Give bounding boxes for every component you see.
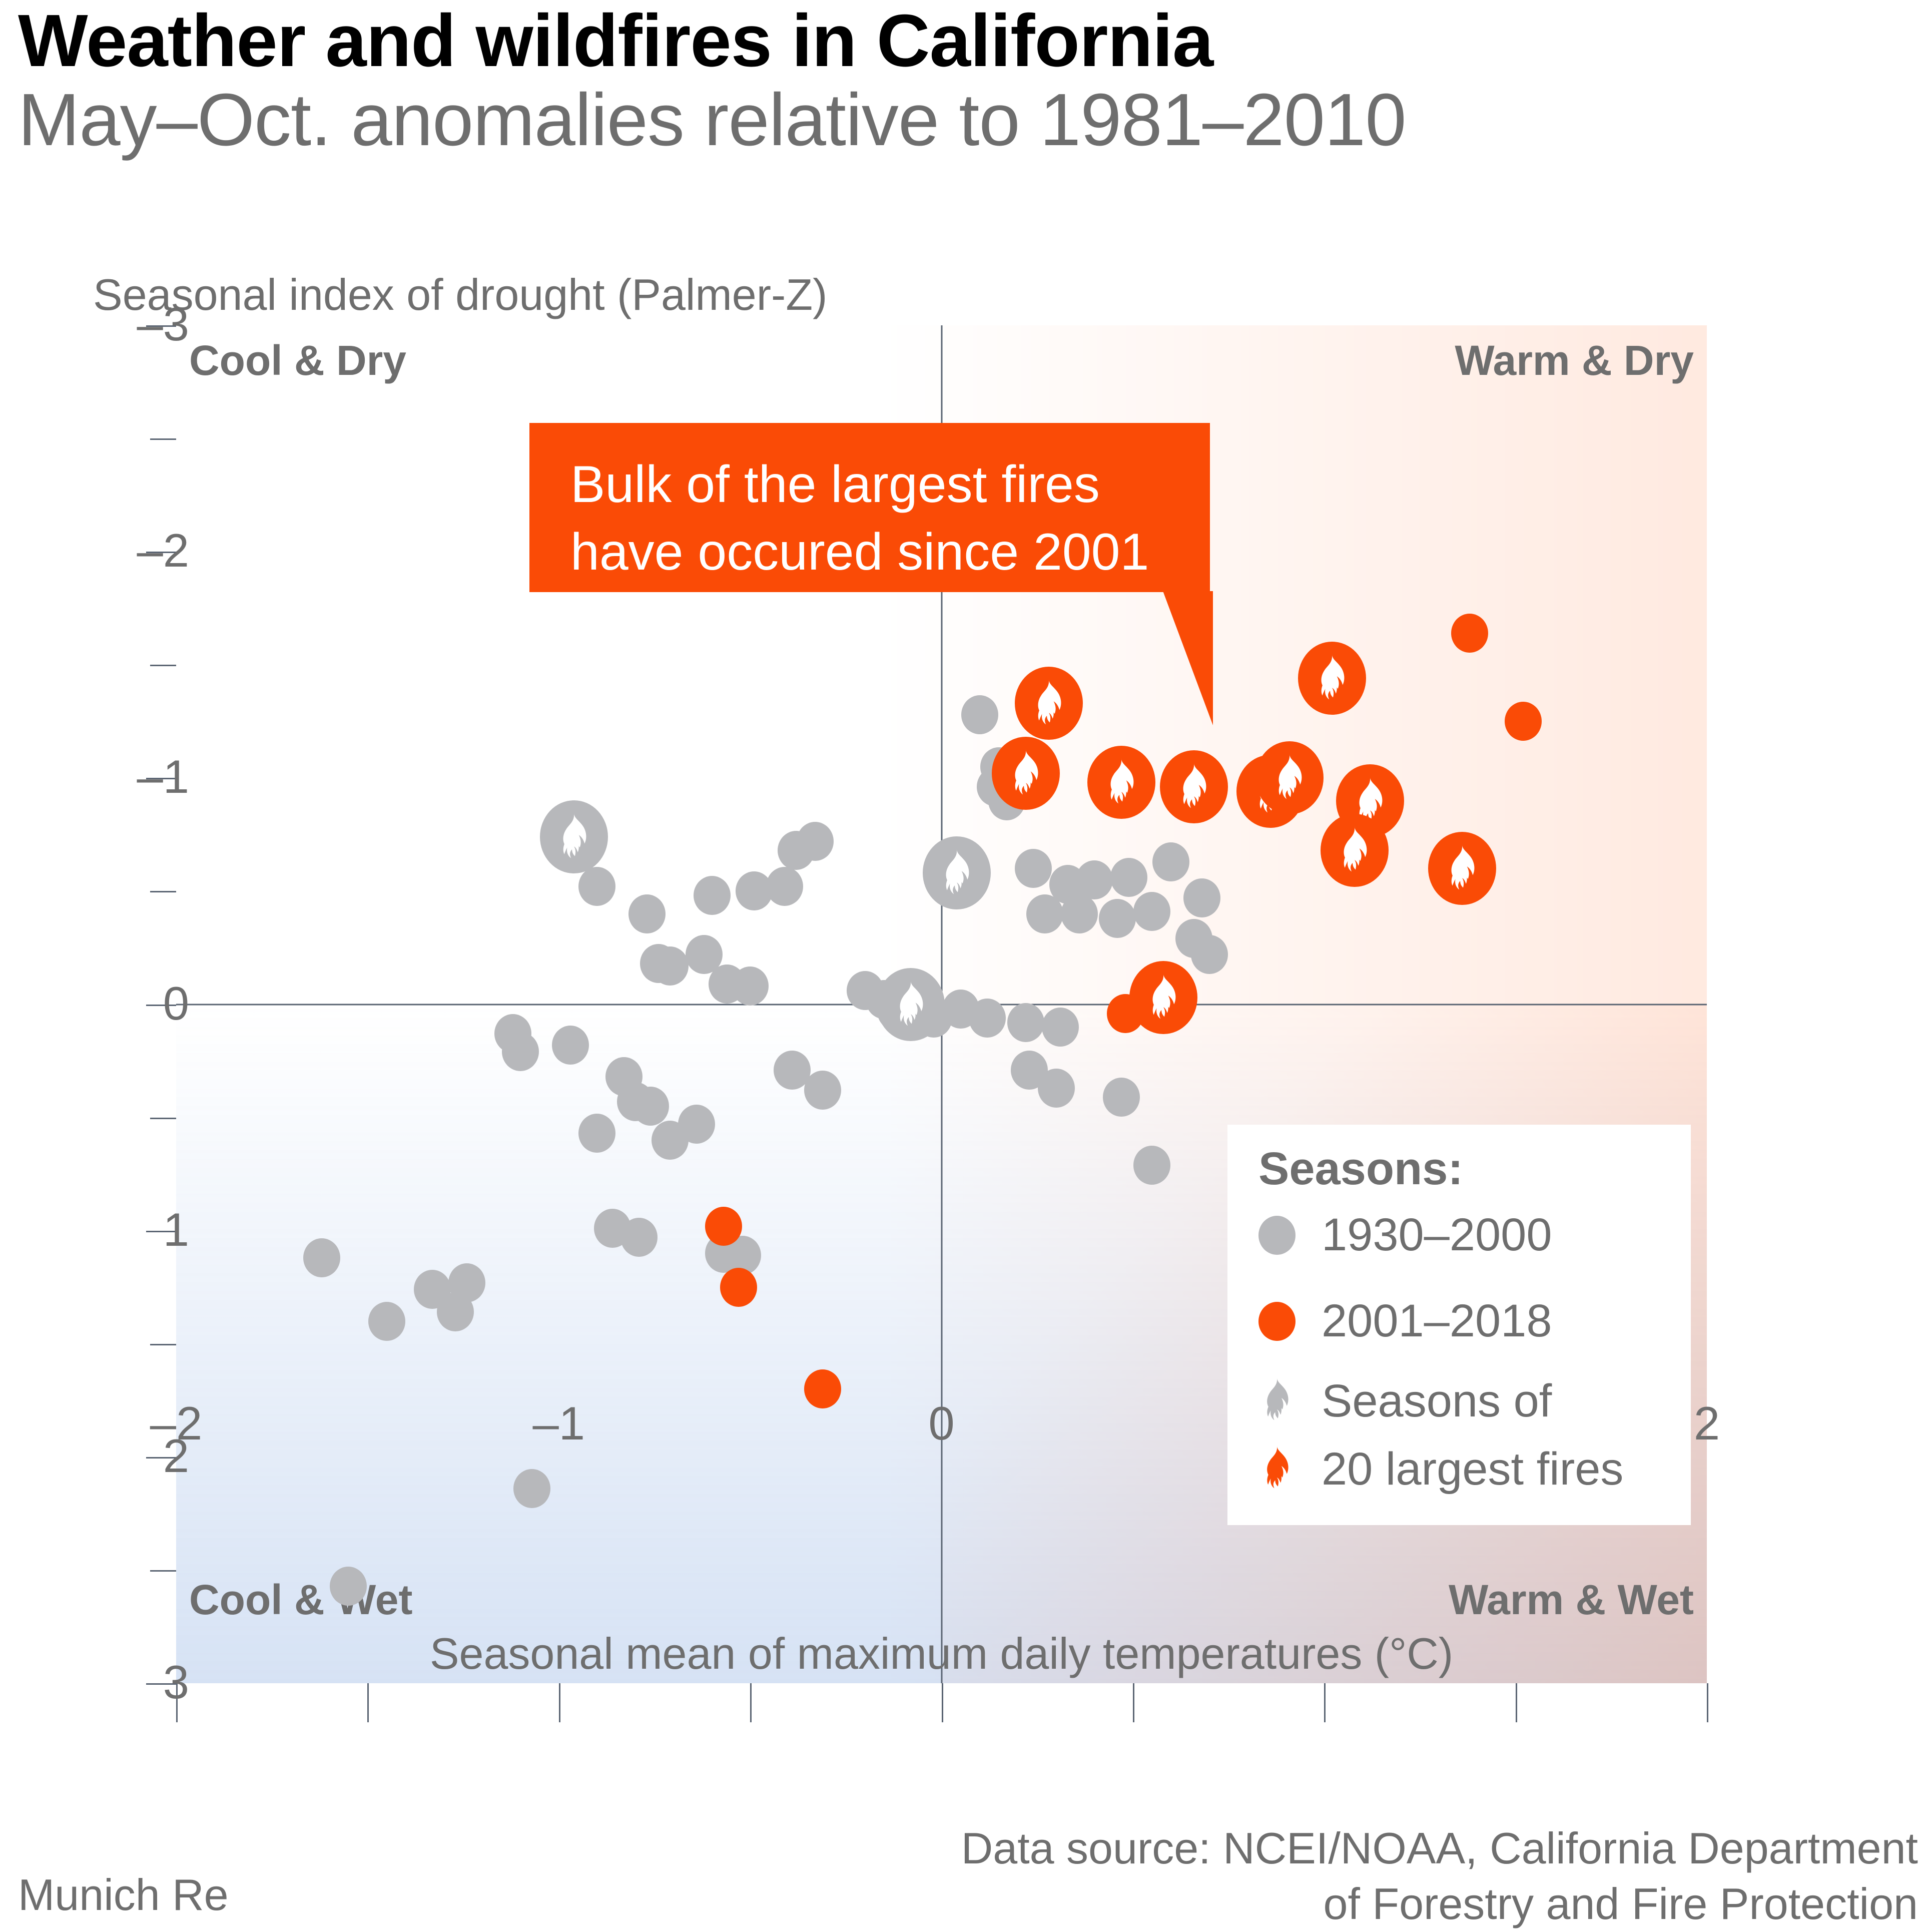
- data-point: [778, 831, 815, 870]
- quadrant-label-warm-dry: Warm & Dry: [1455, 336, 1694, 385]
- data-point: [1133, 892, 1170, 931]
- data-point: [1183, 878, 1220, 917]
- data-point: [502, 1032, 539, 1071]
- annotation-line-1: Bulk of the largest fires: [570, 455, 1100, 514]
- annotation-line-2: have occured since 2001: [570, 523, 1149, 581]
- data-point: [1061, 894, 1098, 933]
- x-tick: [1324, 1683, 1326, 1722]
- x-tick: [1133, 1683, 1134, 1722]
- fire-marker: [877, 968, 945, 1041]
- data-point: [330, 1567, 367, 1606]
- fire-marker: [1298, 642, 1366, 715]
- data-point: [578, 1114, 615, 1153]
- y-tick-minor: [150, 1118, 176, 1119]
- y-tick-label: –1: [59, 750, 189, 804]
- orange-flame-icon: [1258, 1445, 1296, 1494]
- grey-flame-icon: [1258, 1377, 1296, 1425]
- legend-item-20-largest-fires[interactable]: 20 largest fires: [1258, 1443, 1623, 1496]
- data-point: [1099, 899, 1136, 938]
- y-tick-minor: [150, 1570, 176, 1572]
- brand-label: Munich Re: [18, 1869, 229, 1920]
- fire-marker: [540, 800, 608, 873]
- legend-item-seasons-of[interactable]: Seasons of: [1258, 1375, 1552, 1427]
- page-title: Weather and wildfires in California: [18, 0, 1719, 87]
- x-tick: [942, 1683, 943, 1722]
- fire-marker: [1428, 832, 1496, 905]
- x-tick: [367, 1683, 369, 1722]
- x-tick: [1516, 1683, 1517, 1722]
- data-point: [1007, 1003, 1044, 1042]
- x-tick: [750, 1683, 752, 1722]
- orange-dot-icon: [1258, 1302, 1296, 1341]
- data-point: [804, 1369, 841, 1408]
- data-point: [1505, 702, 1542, 741]
- data-point: [1042, 1008, 1079, 1047]
- y-tick-label: –3: [59, 297, 189, 351]
- quadrant-label-cool-dry: Cool & Dry: [189, 336, 406, 385]
- fire-marker: [923, 836, 991, 909]
- grey-dot-icon: [1258, 1216, 1296, 1255]
- y-tick-minor: [150, 438, 176, 440]
- data-source-line-1: Data source: NCEI/NOAA, California Depar…: [961, 1823, 1918, 1873]
- legend: Seasons: 1930–2000 2001–2018 Seasons of …: [1227, 1125, 1691, 1525]
- legend-label-20-largest-fires: 20 largest fires: [1322, 1443, 1623, 1496]
- y-axis-title: Seasonal index of drought (Palmer-Z): [93, 269, 827, 320]
- x-tick-label: –1: [484, 1396, 634, 1451]
- data-point: [1133, 1146, 1170, 1185]
- data-point: [652, 946, 689, 986]
- y-tick-label: 3: [59, 1655, 189, 1709]
- fire-marker: [1015, 667, 1083, 740]
- data-point: [1026, 894, 1063, 933]
- data-point: [736, 871, 773, 910]
- data-point: [1451, 614, 1488, 653]
- x-axis-title: Seasonal mean of maximum daily temperatu…: [176, 1628, 1707, 1679]
- quadrant-label-warm-wet: Warm & Wet: [1449, 1576, 1694, 1624]
- fire-marker: [992, 737, 1060, 810]
- data-point: [1076, 860, 1113, 899]
- data-point: [437, 1292, 474, 1331]
- legend-item-1930-2000[interactable]: 1930–2000: [1258, 1209, 1552, 1261]
- fire-marker: [1321, 814, 1389, 887]
- x-tick-label: –2: [101, 1396, 251, 1451]
- data-point: [632, 1087, 669, 1126]
- y-tick-minor: [150, 891, 176, 892]
- fire-marker: [1129, 961, 1197, 1034]
- data-point: [694, 876, 731, 915]
- data-point: [1152, 842, 1189, 881]
- annotation-callout: Bulk of the largest fires have occured s…: [529, 423, 1210, 592]
- data-point: [578, 867, 615, 906]
- x-tick: [1707, 1683, 1708, 1722]
- fire-marker: [1160, 750, 1228, 823]
- quadrant-label-cool-wet: Cool & Wet: [189, 1576, 412, 1624]
- data-point: [303, 1238, 340, 1277]
- x-tick-label: 0: [867, 1396, 1017, 1451]
- data-source-note: Data source: NCEI/NOAA, California Depar…: [617, 1821, 1918, 1932]
- annotation-callout-tail: [1163, 591, 1213, 725]
- y-tick-label: –2: [59, 524, 189, 578]
- data-point: [1103, 1078, 1140, 1117]
- x-tick: [559, 1683, 560, 1722]
- data-point: [620, 1218, 658, 1257]
- data-point: [1191, 935, 1228, 974]
- data-point: [368, 1302, 405, 1341]
- data-point: [552, 1026, 589, 1065]
- data-point: [804, 1071, 841, 1110]
- legend-label-seasons-of: Seasons of: [1322, 1375, 1552, 1427]
- data-point: [628, 894, 666, 933]
- data-point: [678, 1105, 715, 1144]
- legend-label-2001-2018: 2001–2018: [1322, 1295, 1552, 1347]
- data-point: [1110, 858, 1147, 897]
- y-tick-minor: [150, 1344, 176, 1345]
- data-point: [1015, 849, 1052, 888]
- data-point: [513, 1469, 550, 1508]
- data-point: [705, 1207, 742, 1246]
- annotation-text: Bulk of the largest fires have occured s…: [570, 451, 1190, 586]
- data-source-line-2: of Forestry and Fire Protection: [1324, 1879, 1918, 1928]
- data-point: [732, 967, 769, 1006]
- page-subtitle: May–Oct. anomalies relative to 1981–2010: [18, 75, 1769, 166]
- legend-item-2001-2018[interactable]: 2001–2018: [1258, 1295, 1552, 1347]
- fire-marker: [1255, 741, 1324, 814]
- data-point: [961, 695, 998, 734]
- y-tick-minor: [150, 665, 176, 666]
- data-point: [969, 999, 1006, 1038]
- y-tick-label: 1: [59, 1203, 189, 1257]
- y-tick-label: 0: [59, 977, 189, 1031]
- data-point: [720, 1268, 757, 1307]
- data-point: [1038, 1069, 1075, 1108]
- legend-title: Seasons:: [1258, 1143, 1463, 1195]
- legend-label-1930-2000: 1930–2000: [1322, 1209, 1552, 1261]
- fire-marker: [1087, 746, 1155, 819]
